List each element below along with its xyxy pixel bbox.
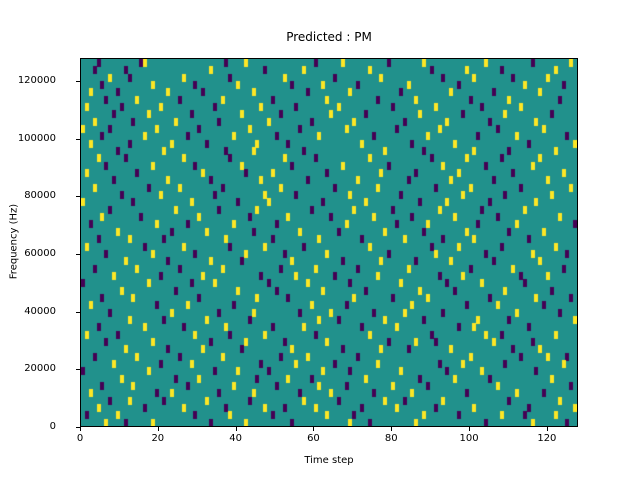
- y-tick-label: 100000: [0, 134, 56, 144]
- page-title: Predicted : PM: [80, 30, 578, 44]
- x-tick-label: 100: [439, 434, 499, 444]
- x-tick-mark: [547, 427, 548, 431]
- x-tick-label: 60: [283, 434, 343, 444]
- heatmap-image: [81, 59, 577, 426]
- x-tick-mark: [313, 427, 314, 431]
- y-axis-label: Frequency (Hz): [9, 112, 20, 372]
- y-tick-label: 60000: [0, 249, 56, 259]
- heatmap-axes[interactable]: [80, 58, 578, 427]
- x-tick-label: 20: [128, 434, 188, 444]
- y-tick-label: 40000: [0, 307, 56, 317]
- matplotlib-figure: Predicted : PM Frequency (Hz) Time step …: [0, 0, 640, 480]
- y-tick-mark: [76, 139, 80, 140]
- x-tick-mark: [469, 427, 470, 431]
- x-tick-mark: [236, 427, 237, 431]
- y-tick-label: 80000: [0, 191, 56, 201]
- y-tick-mark: [76, 312, 80, 313]
- x-tick-label: 0: [50, 434, 110, 444]
- x-tick-label: 120: [517, 434, 577, 444]
- x-tick-mark: [391, 427, 392, 431]
- y-tick-mark: [76, 81, 80, 82]
- x-axis-label: Time step: [80, 455, 578, 466]
- y-tick-mark: [76, 369, 80, 370]
- y-tick-mark: [76, 196, 80, 197]
- y-tick-label: 20000: [0, 364, 56, 374]
- x-tick-mark: [80, 427, 81, 431]
- x-tick-label: 40: [206, 434, 266, 444]
- y-tick-mark: [76, 254, 80, 255]
- x-tick-mark: [158, 427, 159, 431]
- y-tick-label: 0: [0, 422, 56, 432]
- x-tick-label: 80: [361, 434, 421, 444]
- y-tick-label: 120000: [0, 76, 56, 86]
